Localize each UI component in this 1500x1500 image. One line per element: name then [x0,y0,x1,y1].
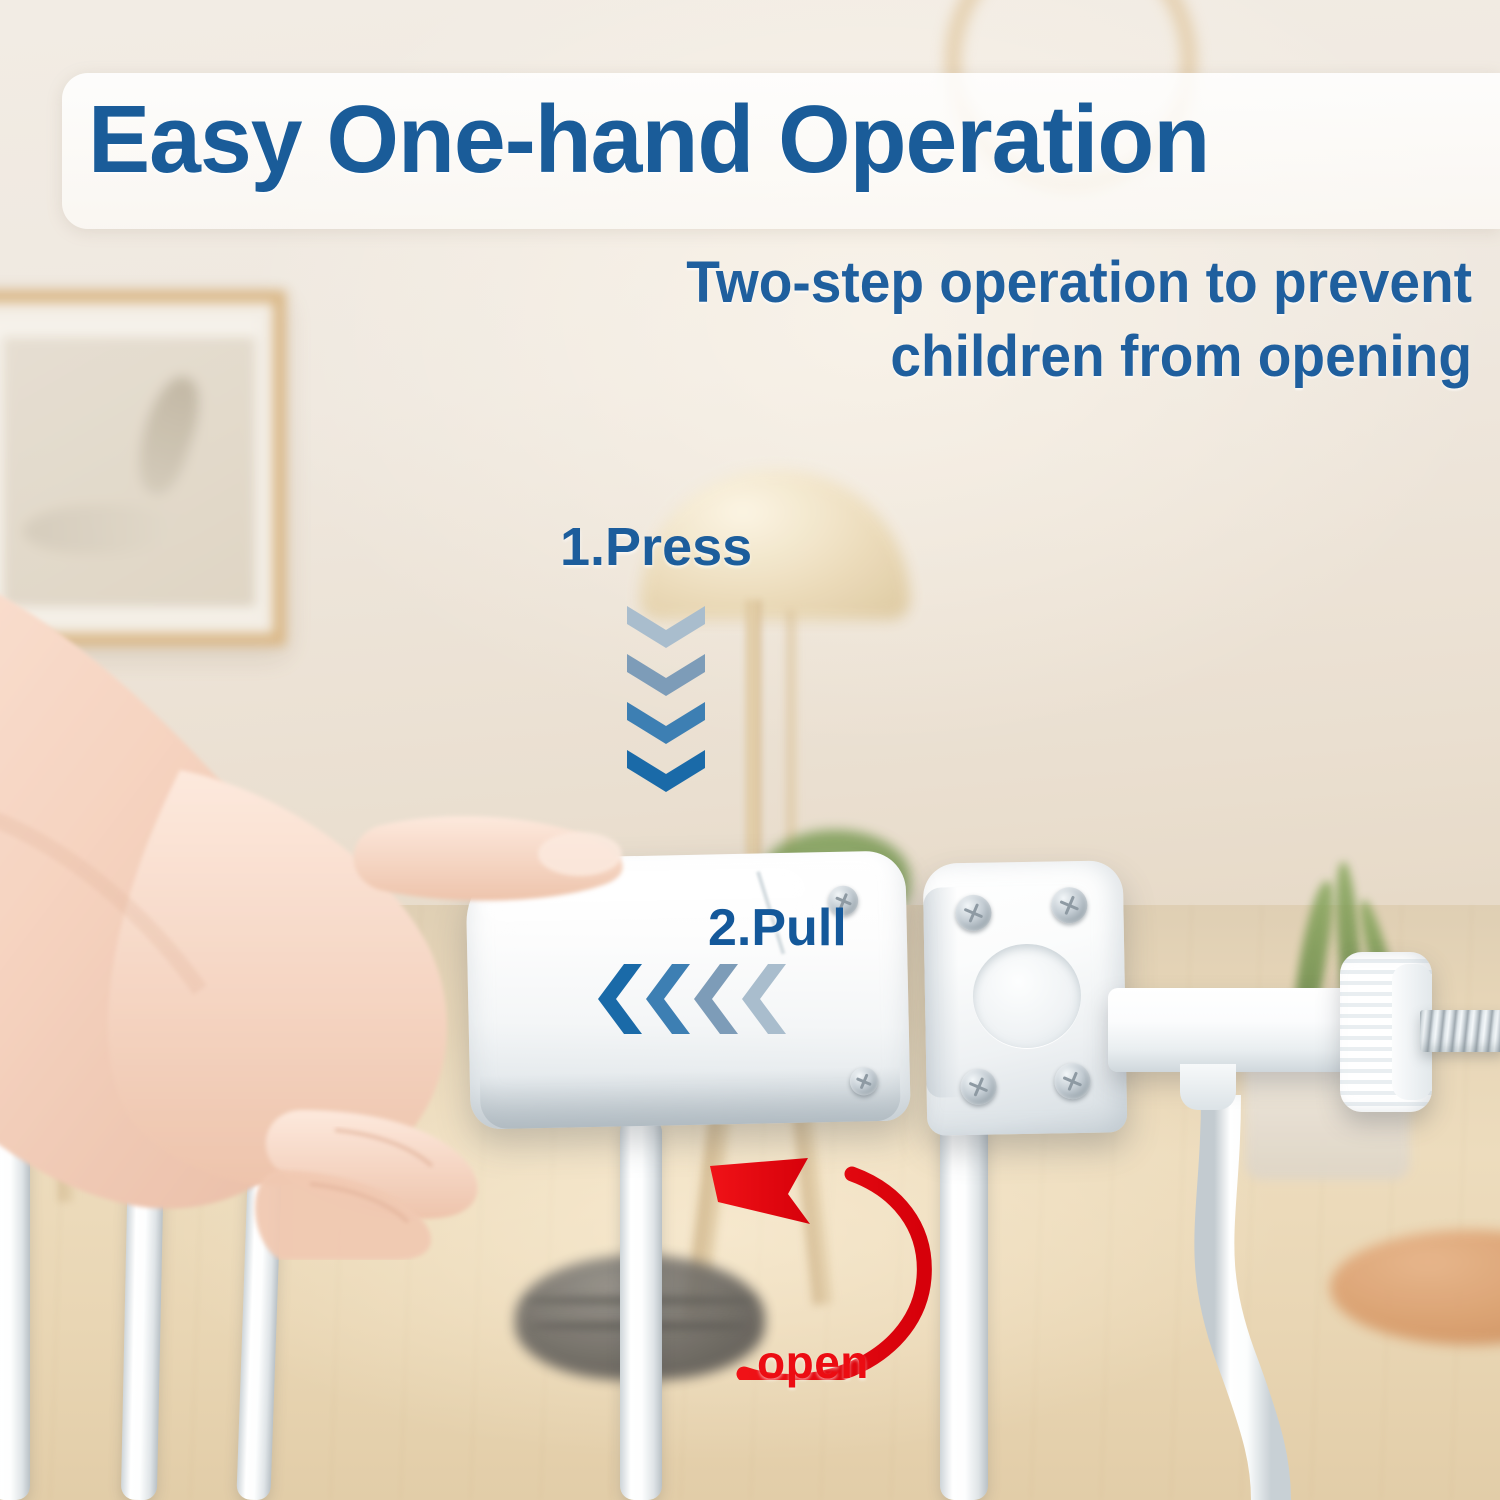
subtitle: Two-step operation to prevent children f… [359,246,1472,394]
open-label: open [757,1335,869,1389]
chevron-left-icon [646,964,690,1034]
product-feature-image: Easy One-hand Operation Two-step operati… [0,0,1500,1500]
screw-top-right [1051,887,1088,924]
left-chevron-group [598,960,808,1038]
chevron-down-icon [627,750,705,792]
screw-bottom-right [1054,1063,1091,1100]
chevron-left-icon [598,964,642,1034]
chevron-down-icon [627,702,705,744]
screw-bottom-left [960,1069,997,1106]
tube-drop-connector [1180,1064,1236,1110]
step-2-label: 2.Pull [708,898,847,958]
gate-cross-tube [1108,988,1358,1072]
page-title: Easy One-hand Operation [88,92,1446,188]
chevron-left-icon [694,964,738,1034]
screw-top-left [955,895,992,932]
down-chevron-group [623,604,709,800]
chevron-down-icon [627,654,705,696]
threaded-bolt [1420,1010,1500,1052]
subtitle-line-1: Two-step operation to prevent [359,246,1472,320]
gate-bar-curved [1175,1095,1325,1500]
hinge-circular-recess [972,943,1082,1049]
human-hand [0,470,640,1260]
hinge-edge-highlight [923,887,961,1098]
chevron-left-icon [742,964,786,1034]
step-1-label: 1.Press [560,516,752,578]
gate-hinge-block [923,860,1128,1135]
chevron-down-icon [627,606,705,648]
subtitle-line-2: children from opening [359,320,1472,394]
